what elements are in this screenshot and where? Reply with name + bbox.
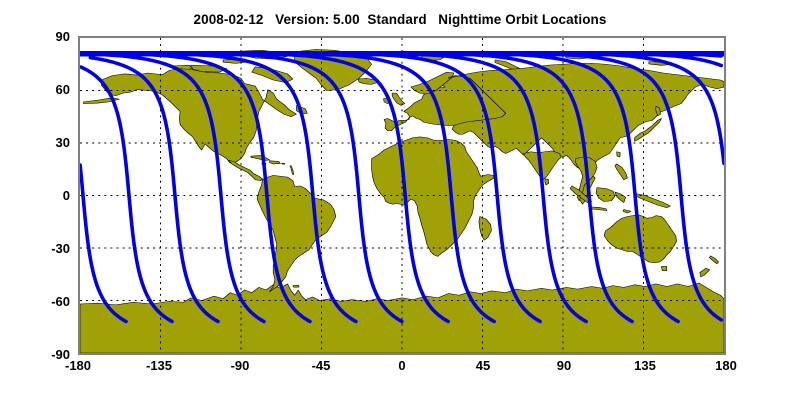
land-taiwan: [617, 152, 621, 157]
x-tick-label--135: -135: [129, 358, 189, 373]
y-tick-label--30: -30: [26, 241, 70, 256]
x-tick-label-0: 0: [372, 358, 432, 373]
x-tick-label--180: -180: [48, 358, 108, 373]
figure-canvas: 2008-02-12 Version: 5.00 Standard Nightt…: [0, 0, 800, 400]
x-tick-label-180: 180: [696, 358, 756, 373]
world-map-ground-track-plot: [80, 38, 724, 353]
y-tick-label-60: 60: [26, 82, 70, 97]
land-puerto-rico: [282, 163, 285, 164]
x-tick-label--90: -90: [210, 358, 270, 373]
y-tick-label--60: -60: [26, 294, 70, 309]
x-tick-label-90: 90: [534, 358, 594, 373]
y-tick-label-30: 30: [26, 135, 70, 150]
x-tick-label--45: -45: [291, 358, 351, 373]
plot-area: [78, 36, 726, 355]
x-tick-label-135: 135: [615, 358, 675, 373]
x-tick-label-45: 45: [453, 358, 513, 373]
y-tick-label-90: 90: [26, 29, 70, 44]
land-tasmania: [661, 266, 666, 270]
page-title: 2008-02-12 Version: 5.00 Standard Nightt…: [0, 12, 800, 27]
land-falklands: [293, 285, 299, 287]
land-hispaniola: [270, 161, 281, 164]
y-tick-label-0: 0: [26, 188, 70, 203]
